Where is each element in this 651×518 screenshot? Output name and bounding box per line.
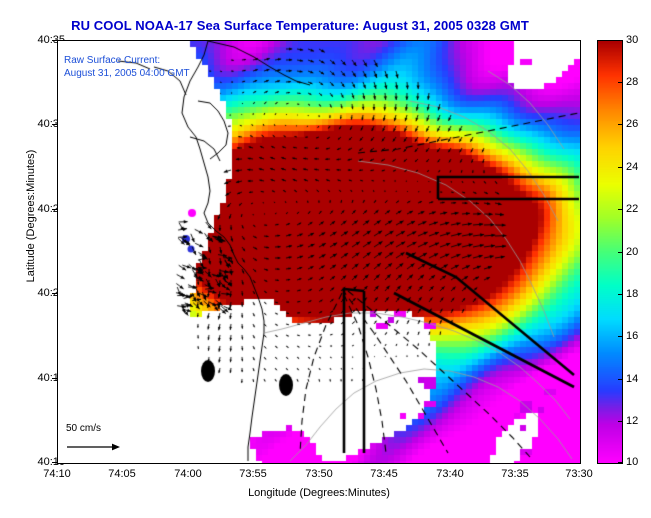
colorbar-tick-label: 26: [626, 118, 650, 130]
colorbar-tick-mark: [618, 252, 623, 253]
colorbar-tick-mark: [618, 167, 623, 168]
colorbar-tick-label: 16: [626, 330, 650, 342]
y-axis-label: Latitude (Degrees:Minutes): [25, 106, 37, 326]
x-tick-label: 73:50: [289, 468, 349, 480]
x-tick-label: 73:45: [354, 468, 414, 480]
colorbar-tick-mark: [618, 82, 623, 83]
x-tick-label: 73:55: [223, 468, 283, 480]
x-tick-label: 73:30: [549, 468, 609, 480]
current-annotation-line1: Raw Surface Current:: [64, 55, 160, 67]
scale-legend-label: 50 cm/s: [66, 423, 101, 434]
colorbar-tick-label: 30: [626, 34, 650, 46]
x-tick-label: 74:05: [92, 468, 152, 480]
colorbar-tick-label: 14: [626, 373, 650, 385]
colorbar-tick-mark: [618, 294, 623, 295]
colorbar-tick-label: 22: [626, 203, 650, 215]
sst-field-canvas: [58, 41, 580, 463]
colorbar-tick-mark: [618, 40, 623, 41]
x-tick-label: 73:40: [420, 468, 480, 480]
colorbar-tick-label: 28: [626, 76, 650, 88]
colorbar-tick-mark: [618, 209, 623, 210]
x-tick-label: 74:10: [27, 468, 87, 480]
colorbar-tick-label: 18: [626, 288, 650, 300]
colorbar-tick-label: 20: [626, 246, 650, 258]
map-plot-area[interactable]: Raw Surface Current: August 31, 2005 04:…: [57, 40, 581, 464]
colorbar-tick-mark: [618, 421, 623, 422]
x-tick-label: 73:35: [485, 468, 545, 480]
colorbar-tick-label: 10: [626, 456, 650, 468]
sst-map-figure: RU COOL NOAA-17 Sea Surface Temperature:…: [0, 0, 651, 518]
colorbar-tick-mark: [618, 124, 623, 125]
arrow-right-icon: [66, 441, 122, 453]
colorbar-tick-mark: [618, 462, 623, 463]
figure-title: RU COOL NOAA-17 Sea Surface Temperature:…: [0, 18, 600, 33]
current-annotation-line2: August 31, 2005 04:00 GMT: [64, 68, 190, 80]
x-axis-label: Longitude (Degrees:Minutes): [57, 487, 581, 499]
colorbar-tick-label: 12: [626, 415, 650, 427]
colorbar-tick-label: 24: [626, 161, 650, 173]
x-tick-label: 74:00: [158, 468, 218, 480]
colorbar-tick-mark: [618, 379, 623, 380]
colorbar-tick-mark: [618, 336, 623, 337]
